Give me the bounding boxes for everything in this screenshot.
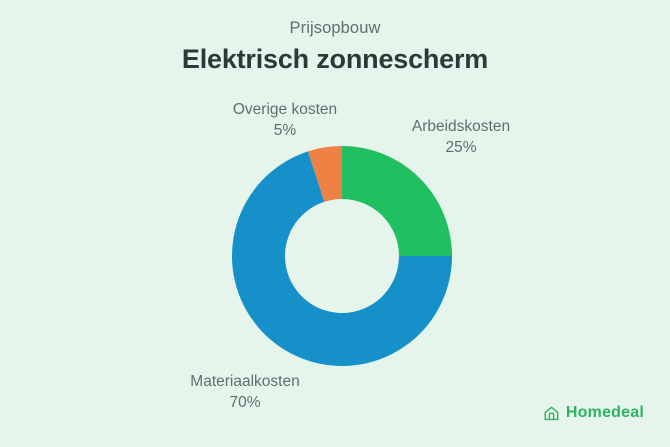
slice-label-materiaalkosten: Materiaalkosten 70% — [104, 371, 386, 413]
donut-slice-arbeidskosten — [342, 146, 452, 256]
chart-canvas: Prijsopbouw Elektrisch zonnescherm Overi… — [0, 0, 670, 447]
slice-label-materiaal-name: Materiaalkosten — [190, 373, 299, 390]
donut-slices — [232, 146, 452, 366]
logo-text: Homedeal — [566, 404, 644, 422]
slice-label-overige-value: 5% — [181, 120, 389, 141]
slice-label-arbeids-name: Arbeidskosten — [412, 118, 510, 135]
slice-label-arbeids-value: 25% — [381, 137, 541, 158]
house-icon — [543, 405, 560, 422]
slice-label-arbeidskosten: Arbeidskosten 25% — [381, 116, 541, 158]
homedeal-logo: Homedeal — [543, 404, 644, 422]
slice-label-overige-kosten: Overige kosten 5% — [181, 99, 389, 141]
slice-label-materiaal-value: 70% — [104, 392, 386, 413]
slice-label-overige-name: Overige kosten — [233, 101, 337, 118]
